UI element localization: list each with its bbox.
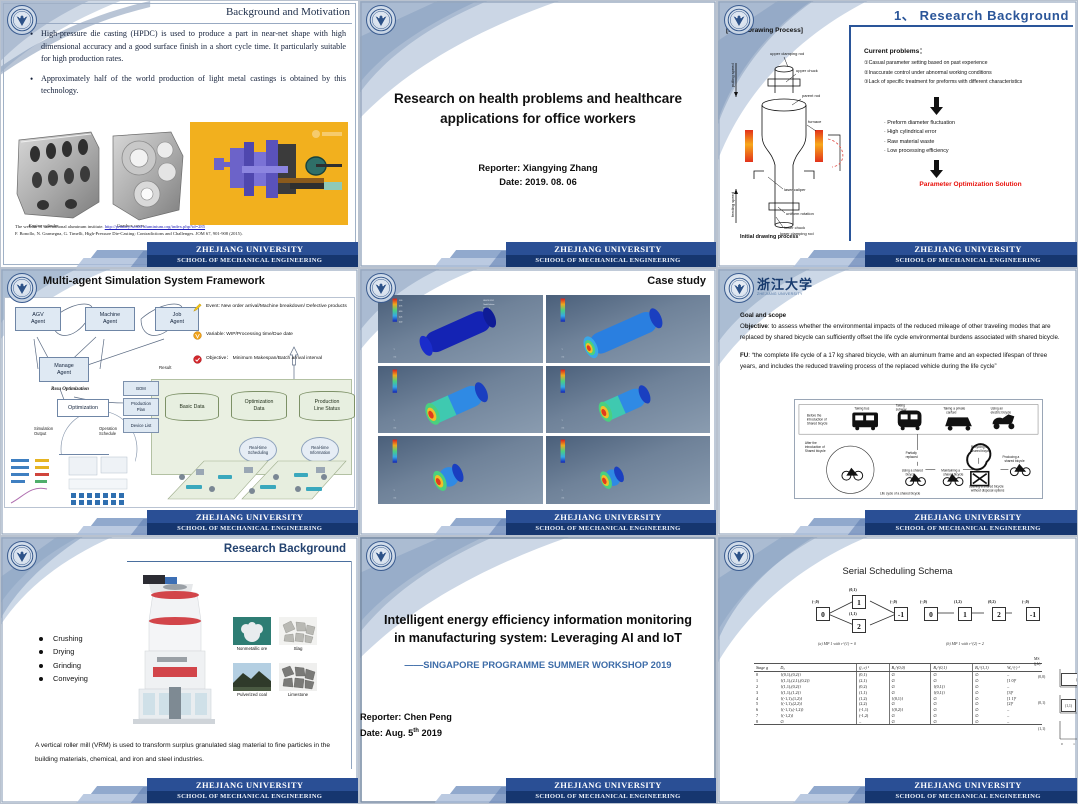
footer-school: SCHOOL OF MECHANICAL ENGINEERING	[144, 255, 355, 267]
graph-b-label-0: (-,0)	[920, 599, 927, 604]
footer-school: SCHOOL OF MECHANICAL ENGINEERING	[862, 255, 1074, 267]
slide-goal-and-scope[interactable]: 浙江大学 ZHEJIANG UNIVERSITY Goal and scope …	[717, 268, 1078, 536]
slide-research-background-vrm[interactable]: Research Background Crushing Drying Grin…	[0, 536, 359, 804]
loop-label: Rssu Optimization	[51, 387, 89, 392]
problem-item: ①Casual parameter setting based on past …	[864, 59, 1073, 69]
page-title: 1、 Research Background	[894, 5, 1069, 24]
slide-footer: ZHEJIANG UNIVERSITY SCHOOL OF MECHANICAL…	[1, 242, 358, 267]
scheduling-table: Stage g D₉ (j, c) ¹ B₉^(0,0) B₉^(0,1) B₉…	[754, 663, 1042, 725]
slide-footer: ZHEJIANG UNIVERSITY SCHOOL OF MECHANICAL…	[718, 242, 1077, 267]
db-optimization-data[interactable]: OptimizationData	[231, 391, 287, 421]
drawing-process-diagram: upper clamping rod upper chuck parent ro…	[728, 39, 850, 237]
logo-cn-sub: ZHEJIANG UNIVERSITY	[757, 293, 813, 296]
db-production-line-status[interactable]: ProductionLine Status	[299, 391, 355, 421]
slide-grid: Background and Motivation High-pressure …	[0, 0, 1078, 804]
svg-text:car/taxi: car/taxi	[946, 410, 956, 414]
material-image	[233, 617, 271, 645]
col-jc: (j, c) ¹	[857, 664, 889, 672]
svg-text:Life cycle of a shared bicycle: Life cycle of a shared bicycle	[880, 491, 921, 495]
graph-a-node-3: -1	[894, 607, 908, 621]
graph-a-label-1: (0,1)	[849, 587, 857, 592]
life-cycle-figure: Before theintroduction ofShared bicycle …	[794, 399, 1043, 499]
legend-objective: Objective： Minimum Makespan/Batch arriva…	[206, 355, 352, 362]
zju-logo-icon	[724, 5, 754, 35]
table-header-row: Stage g D₉ (j, c) ¹ B₉^(0,0) B₉^(0,1) B₉…	[754, 664, 1042, 672]
slide-footer: ZHEJIANG UNIVERSITY SCHOOL OF MECHANICAL…	[718, 778, 1077, 803]
goal-and-scope-text: Goal and scope Objective: to assess whet…	[740, 311, 1063, 372]
col-dg: D₉	[778, 664, 856, 672]
footer-university: ZHEJIANG UNIVERSITY	[503, 779, 713, 791]
problem-item: ③Lack of specific treatment for preforms…	[864, 78, 1073, 88]
outcome-item: · Raw material waste	[884, 138, 1073, 147]
bullet-list: High-pressure die casting (HPDC) is used…	[27, 28, 346, 105]
material-label: Limestone	[279, 692, 317, 697]
svg-text:1: 1	[1073, 742, 1075, 746]
footer-school: SCHOOL OF MECHANICAL ENGINEERING	[503, 255, 713, 267]
svg-text:pulling speed: pulling speed	[730, 63, 735, 87]
reference-link[interactable]: http://primary.world-aluminium.org/index…	[105, 224, 205, 229]
footer-school: SCHOOL OF MECHANICAL ENGINEERING	[144, 523, 355, 535]
svg-text:uniform rotation: uniform rotation	[786, 211, 814, 216]
zju-logo-icon	[366, 541, 396, 571]
fu-label: FU	[740, 352, 748, 359]
zju-logo-with-name: 浙江大学 ZHEJIANG UNIVERSITY	[724, 273, 813, 303]
list-item: Approximately half of the world producti…	[41, 73, 346, 98]
node-label: Optimization	[68, 405, 98, 412]
graph-a-caption: (a) MP 1 with r^(1) = 0	[818, 641, 856, 646]
svg-text:Taking bus: Taking bus	[854, 406, 870, 410]
objective-icon	[193, 355, 202, 364]
loop-edge-label: SimulationOutput	[34, 426, 53, 437]
graph-a-label-0: (-,0)	[812, 599, 819, 604]
reference-item: The website of international aluminum in…	[15, 223, 352, 230]
presentation-meta: Reporter: Xiangying Zhang Date: 2019. 08…	[360, 161, 716, 189]
svg-text:replaced: replaced	[906, 455, 918, 459]
material-image	[279, 617, 317, 645]
objective-text: : to assess whether the environmental im…	[740, 323, 1060, 340]
current-problems-label: Current problems：	[864, 45, 926, 55]
loop-edge-label: OperationSchedule	[99, 426, 117, 437]
svg-text:X Z: X Z	[561, 498, 565, 500]
svg-text:lower chuck: lower chuck	[784, 225, 805, 230]
graph-b-label-1: (1,2)	[954, 599, 962, 604]
cloud-label: Real-timeScheduling	[248, 445, 268, 456]
node-optimization[interactable]: Optimization	[57, 399, 109, 417]
node-label: AGVAgent	[31, 312, 45, 326]
legend-text: Event: New order arrival/Machine breakdo…	[206, 304, 347, 309]
svg-text:X Z: X Z	[393, 498, 397, 500]
problem-item: ②Inaccurate control under abnormal worki…	[864, 69, 1073, 79]
casting-photos: Engine cylinder Gearbox cover	[13, 122, 191, 227]
graph-a-node-0: 0	[816, 607, 830, 621]
page-title: Background and Motivation	[226, 6, 350, 18]
simulation-panel[interactable]: YX Z	[546, 436, 711, 504]
svg-text:Y: Y	[561, 420, 563, 422]
slide-footer: ZHEJIANG UNIVERSITY SCHOOL OF MECHANICAL…	[360, 242, 716, 267]
presentation-title: Intelligent energy efficiency informatio…	[360, 611, 716, 647]
reporter-line: Reporter: Xiangying Zhang	[360, 161, 716, 175]
slide-case-study-simulation[interactable]: Case study 1.000.750.500.250.00 ANSYS R1…	[359, 268, 717, 536]
solution-callout: Parameter Optimization Solution	[868, 181, 1073, 188]
zju-logo-icon	[7, 5, 37, 35]
gantt-chart: MS(j,k) (0,0) (0,1) (1,1) 0123 456 (1,1)…	[1056, 665, 1078, 751]
gantt-bar: (1,1)	[1061, 673, 1078, 686]
footer-university: ZHEJIANG UNIVERSITY	[144, 243, 355, 255]
page-title: Research Background	[224, 543, 346, 555]
list-item: Crushing	[39, 632, 88, 645]
svg-text:0: 0	[1061, 742, 1063, 746]
db-label: Basic Data	[179, 404, 204, 411]
footer-school: SCHOOL OF MECHANICAL ENGINEERING	[144, 791, 355, 803]
body-text: A vertical roller mill (VRM) is used to …	[35, 739, 338, 767]
gantt-row-label: (0,1)	[1038, 701, 1045, 705]
simulation-panel[interactable]: YX Z	[378, 366, 543, 434]
slide-research-background-drawing[interactable]: 1、 Research Background [Initial Drawing …	[717, 0, 1078, 268]
list-item: Drying	[39, 645, 88, 658]
gantt-axis-label: MS(j,k)	[1034, 657, 1040, 666]
slide-serial-scheduling-schema[interactable]: Serial Scheduling Schema 0 (-,0) 1 (0,1)…	[717, 536, 1078, 804]
outcome-item: · Preform diameter fluctuation	[884, 119, 1073, 128]
legend-text: Variable: WIP/Processing time/Due date	[206, 332, 293, 337]
page-title: Case study	[647, 275, 706, 287]
svg-text:Shared bicycle: Shared bicycle	[807, 421, 828, 425]
current-problems-list: ①Casual parameter setting based on past …	[864, 59, 1073, 88]
input-device-list[interactable]: Device List	[123, 418, 159, 433]
svg-text:Y: Y	[561, 349, 563, 351]
date-line: Date: 2019. 08. 06	[360, 175, 716, 189]
references: The website of international aluminum in…	[15, 223, 352, 237]
title-line-1: Intelligent energy efficiency informatio…	[372, 611, 704, 629]
material-label: Pulverized coal	[233, 692, 271, 697]
col-b01: B₉^(0,1)	[931, 664, 973, 672]
db-label: ProductionLine Status	[314, 399, 340, 413]
right-rule	[351, 561, 352, 769]
dashboard-illustration	[9, 455, 135, 507]
date-prefix: Date: Aug. 5	[360, 728, 413, 738]
node-manage-agent[interactable]: ManageAgent	[39, 357, 89, 382]
graph-b-node-2: 2	[992, 607, 1006, 621]
reporter-line: Reporter: Chen Peng	[360, 711, 688, 725]
slide-background-decoration	[360, 1, 716, 267]
material-nonmetallic-ore: Nonmetallic ore	[233, 617, 271, 651]
section-heading: Goal and scope	[740, 312, 786, 319]
graph-a-label-2: (1,1)	[849, 611, 857, 616]
legend-text: Objective： Minimum Makespan/Batch arriva…	[206, 356, 322, 361]
shop-floor-illustration	[156, 455, 356, 507]
svg-text:0.25: 0.25	[399, 316, 402, 318]
svg-text:feeding speed: feeding speed	[730, 192, 735, 217]
col-b11: B₉^(1,1)	[973, 664, 1005, 672]
slide-footer: ZHEJIANG UNIVERSITY SCHOOL OF MECHANICAL…	[360, 510, 716, 535]
material-image	[233, 663, 271, 691]
hpdc-machine-diagram	[190, 122, 348, 225]
svg-text:upper chuck: upper chuck	[796, 68, 818, 73]
footer-university: ZHEJIANG UNIVERSITY	[862, 243, 1074, 255]
table-body: 0{(0,1),(0,2)} (0,1)∅ ∅∅ – 1{(1,1),(2,1)…	[754, 672, 1042, 725]
input-label: BOM	[136, 386, 146, 392]
db-basic-data[interactable]: Basic Data	[165, 393, 219, 421]
material-slag: Slag	[279, 617, 317, 651]
legend-variable: Variable: WIP/Processing time/Due date	[206, 331, 352, 338]
svg-text:furnace: furnace	[808, 119, 822, 124]
page-title: Multi-agent Simulation System Framework	[43, 275, 265, 287]
svg-text:Y: Y	[393, 491, 395, 493]
material-label: Nonmetallic ore	[233, 646, 271, 651]
graph-b-label-3: (-,0)	[1022, 599, 1029, 604]
graph-a-label-3: (-,0)	[890, 599, 897, 604]
footer-university: ZHEJIANG UNIVERSITY	[503, 243, 713, 255]
footer-university: ZHEJIANG UNIVERSITY	[862, 779, 1074, 791]
slide-footer: ZHEJIANG UNIVERSITY SCHOOL OF MECHANICAL…	[718, 510, 1077, 535]
graph-a-node-2: 2	[852, 619, 866, 633]
page-title: Serial Scheduling Schema	[718, 565, 1077, 576]
slide-footer: ZHEJIANG UNIVERSITY SCHOOL OF MECHANICAL…	[1, 778, 358, 803]
node-agv-agent[interactable]: AGVAgent	[15, 307, 61, 331]
zju-logo-chinese-name: 浙江大学 ZHEJIANG UNIVERSITY	[757, 279, 813, 296]
slide-footer: ZHEJIANG UNIVERSITY SCHOOL OF MECHANICAL…	[1, 510, 358, 535]
footer-university: ZHEJIANG UNIVERSITY	[144, 779, 355, 791]
node-label: ManageAgent	[54, 363, 73, 377]
graph-a-node-1: 1	[852, 595, 866, 609]
title-divider	[849, 25, 1073, 27]
svg-text:Y: Y	[561, 491, 563, 493]
svg-text:X Z: X Z	[393, 427, 397, 429]
table-row: 8∅ –∅ ∅∅ –	[754, 718, 1042, 724]
title-divider	[127, 561, 352, 562]
footer-university: ZHEJIANG UNIVERSITY	[862, 511, 1074, 523]
svg-text:ANSYS R19.2: ANSYS R19.2	[483, 299, 494, 302]
result-label: Result	[159, 365, 171, 370]
vertical-roller-mill-photo	[119, 571, 223, 727]
slide-multi-agent-simulation-framework[interactable]: Multi-agent Simulation System Framework …	[0, 268, 359, 536]
footer-school: SCHOOL OF MECHANICAL ENGINEERING	[503, 523, 713, 535]
logo-cn-text: 浙江大学	[757, 278, 813, 293]
graph-b-caption: (b) MP 1 with r^(2) = 2	[946, 641, 984, 646]
simulation-panel[interactable]: 1.000.750.500.250.00 ANSYS R19.2Nodal So…	[378, 295, 543, 363]
zju-logo-icon	[366, 5, 396, 35]
list-item: High-pressure die casting (HPDC) is used…	[41, 28, 346, 66]
objective-paragraph: Objective: to assess whether the environ…	[740, 322, 1063, 343]
svg-text:X Z: X Z	[561, 356, 565, 358]
fu-paragraph: FU: “the complete life cycle of a 17 kg …	[740, 351, 1063, 372]
list-item: Grinding	[39, 659, 88, 672]
objective-label-bold: bjective	[745, 323, 768, 330]
input-bom[interactable]: BOM	[123, 381, 159, 396]
zju-logo-icon	[7, 273, 37, 303]
down-arrow-icon	[930, 160, 943, 178]
db-label: OptimizationData	[245, 399, 274, 413]
svg-text:without disposal options: without disposal options	[971, 488, 1005, 492]
legend-event: Event: New order arrival/Machine breakdo…	[206, 303, 352, 310]
svg-text:laser caliper: laser caliper	[784, 187, 806, 192]
zju-logo-icon	[724, 273, 754, 303]
node-machine-agent[interactable]: MachineAgent	[85, 307, 135, 331]
simulation-panel[interactable]: YX Z	[546, 366, 711, 434]
reference-item: F. Bonollo, N. Gramegna, G. Timelli, Hig…	[15, 230, 352, 237]
slide-title-intelligent-energy-efficiency[interactable]: Intelligent energy efficiency informatio…	[359, 536, 717, 804]
input-label: Device List	[131, 423, 151, 429]
simulation-panel-grid: 1.000.750.500.250.00 ANSYS R19.2Nodal So…	[378, 295, 710, 507]
svg-text:0.75: 0.75	[399, 306, 402, 308]
footer-school: SCHOOL OF MECHANICAL ENGINEERING	[503, 791, 713, 803]
presentation-title: Research on health problems and healthca…	[360, 89, 716, 129]
presentation-meta: Reporter: Chen Peng Date: Aug. 5th 2019	[360, 711, 688, 740]
input-production-plan[interactable]: ProductionPlan	[123, 398, 159, 416]
col-stage: Stage g	[754, 664, 778, 672]
slide-background-decoration	[360, 537, 716, 803]
outcome-item: · High cylindrical error	[884, 128, 1073, 137]
svg-text:shared bicycle: shared bicycle	[1004, 459, 1024, 463]
list-item: Conveying	[39, 672, 88, 685]
svg-text:1.00: 1.00	[399, 300, 402, 302]
material-label: Slag	[279, 646, 317, 651]
simulation-panel[interactable]: YX Z	[378, 436, 543, 504]
figure-caption: Initial drawing process	[740, 234, 798, 240]
footer-school: SCHOOL OF MECHANICAL ENGINEERING	[862, 791, 1074, 803]
graph-b-label-2: (0,2)	[988, 599, 996, 604]
gantt-row-label: (0,0)	[1038, 675, 1045, 679]
simulation-panel[interactable]: YX Z	[546, 295, 711, 363]
svg-text:upper clamping rod: upper clamping rod	[770, 51, 804, 56]
graph-b-node-1: 1	[958, 607, 972, 621]
zju-logo-icon	[724, 541, 754, 571]
gantt-row-label: (1,1)	[1038, 727, 1045, 731]
title-line-2: in manufacturing system: Leveraging AI a…	[372, 629, 704, 647]
svg-text:0.00: 0.00	[399, 322, 402, 324]
title-line-2: applications for office workers	[378, 109, 698, 129]
graph-b-node-3: -1	[1026, 607, 1040, 621]
title-line-1: Research on health problems and healthca…	[378, 89, 698, 109]
outcome-item: · Low processing efficiency	[884, 147, 1073, 156]
presentation-subtitle: ——SINGAPORE PROGRAMME SUMMER WORKSHOP 20…	[360, 659, 716, 670]
slide-footer: ZHEJIANG UNIVERSITY SCHOOL OF MECHANICAL…	[360, 778, 716, 803]
svg-text:Y: Y	[393, 349, 395, 351]
footer-university: ZHEJIANG UNIVERSITY	[503, 511, 713, 523]
svg-text:Y: Y	[393, 420, 395, 422]
svg-text:X Z: X Z	[393, 356, 397, 358]
pencil-icon	[193, 303, 202, 312]
material-pulverized-coal: Pulverized coal	[233, 663, 271, 697]
gantt-bar: (1,1)	[1061, 699, 1076, 712]
node-label: JobAgent	[170, 312, 184, 326]
cloud-label: Real-timeInformation	[310, 445, 330, 456]
footer-university: ZHEJIANG UNIVERSITY	[144, 511, 355, 523]
svg-text:X Z: X Z	[561, 427, 565, 429]
footer-school: SCHOOL OF MECHANICAL ENGINEERING	[862, 523, 1074, 535]
node-label: MachineAgent	[100, 312, 120, 326]
reference-prefix: The website of international aluminum in…	[15, 224, 104, 229]
svg-text:Nodal Solution: Nodal Solution	[483, 303, 494, 306]
svg-text:subway: subway	[896, 407, 907, 411]
outcomes-list: · Preform diameter fluctuation · High cy…	[884, 119, 1073, 157]
variable-icon	[193, 331, 202, 340]
col-b00: B₉^(0,0)	[889, 664, 931, 672]
material-limestone: Limestone	[279, 663, 317, 697]
down-arrow-icon	[930, 97, 943, 115]
svg-text:0.50: 0.50	[399, 311, 402, 313]
zju-logo-icon	[366, 273, 396, 303]
svg-text:electric bicycle: electric bicycle	[991, 410, 1012, 414]
svg-text:parent rod: parent rod	[802, 93, 820, 98]
process-bullet-list: Crushing Drying Grinding Conveying	[39, 632, 88, 686]
material-image	[279, 663, 317, 691]
slide-title-health-office-workers[interactable]: Research on health problems and healthca…	[359, 0, 717, 268]
slide-background-and-motivation[interactable]: Background and Motivation High-pressure …	[0, 0, 359, 268]
graph-b-node-0: 0	[924, 607, 938, 621]
title-divider	[34, 23, 352, 24]
fu-text: : “the complete life cycle of a 17 kg sh…	[740, 352, 1047, 369]
date-line: Date: Aug. 5th 2019	[360, 725, 688, 741]
zju-logo-icon	[7, 541, 37, 571]
date-suffix: 2019	[419, 728, 442, 738]
svg-text:Shared bicycle: Shared bicycle	[805, 449, 826, 453]
input-label: ProductionPlan	[131, 401, 151, 413]
